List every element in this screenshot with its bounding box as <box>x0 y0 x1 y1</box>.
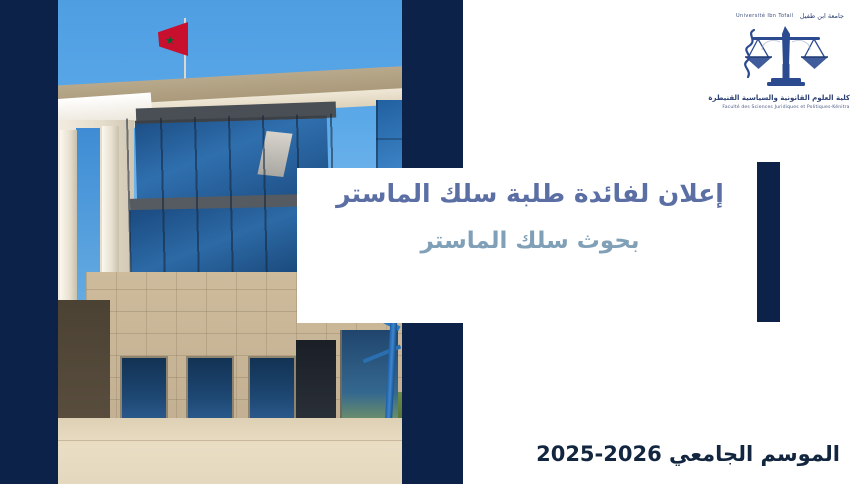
ground-floor-window <box>186 356 234 422</box>
flag-star-icon: ★ <box>166 36 175 45</box>
page-subtitle: بحوث سلك الماستر <box>310 227 750 256</box>
university-logo: جامعة ابن طفيل Université Ibn Tofail <box>722 8 850 120</box>
ground-floor-window <box>120 356 168 422</box>
headline-block: إعلان لفائدة طلبة سلك الماستر بحوث سلك ا… <box>310 178 750 256</box>
logo-university-french: Université Ibn Tofail <box>736 13 794 19</box>
pavement-seam <box>58 440 402 441</box>
logo-faculty-french: Faculté des Sciences Juridiques et Polit… <box>722 105 850 110</box>
scales-of-justice-icon <box>738 20 834 96</box>
pavement <box>58 418 402 484</box>
ground-floor-window <box>248 356 296 422</box>
entrance-door <box>296 340 336 420</box>
logo-university-arabic: جامعة ابن طفيل <box>800 12 844 20</box>
accent-bar <box>757 162 780 322</box>
left-navy-strip <box>0 0 58 484</box>
page-title: إعلان لفائدة طلبة سلك الماستر <box>310 178 750 209</box>
logo-faculty-arabic: كلية العلوم القانونية والسياسية القنيطرة <box>722 94 850 102</box>
academic-season-label: الموسم الجامعي 2026-2025 <box>536 442 840 466</box>
announcement-banner: ★ إعلان لفائدة طلب <box>0 0 860 484</box>
